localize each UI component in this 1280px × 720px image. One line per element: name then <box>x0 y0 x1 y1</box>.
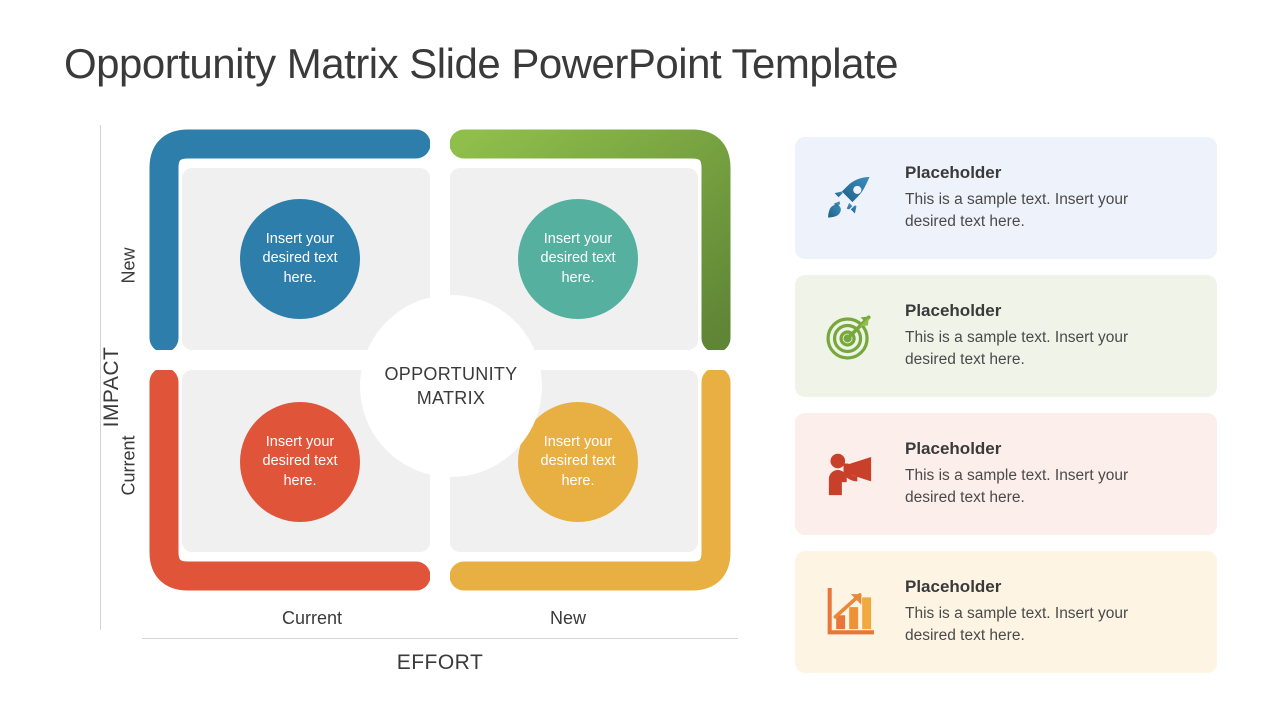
x-axis-title: EFFORT <box>240 651 640 675</box>
card-body: Placeholder This is a sample text. Inser… <box>905 577 1201 648</box>
x-axis-tick-current: Current <box>192 608 432 629</box>
y-axis-tick-new: New <box>119 221 140 311</box>
x-axis-tick-new: New <box>448 608 688 629</box>
center-hub-line-1: OPPORTUNITY <box>385 364 518 384</box>
rocket-icon <box>817 167 883 229</box>
card-title: Placeholder <box>905 163 1201 183</box>
target-icon <box>817 305 883 367</box>
placeholder-card-list: Placeholder This is a sample text. Inser… <box>795 137 1217 682</box>
x-axis-line <box>142 638 738 639</box>
center-hub-line-2: MATRIX <box>417 388 485 408</box>
card-body: Placeholder This is a sample text. Inser… <box>905 439 1201 510</box>
quadrant-grid: Insert your desired text here. Insert yo… <box>140 120 740 600</box>
card-title: Placeholder <box>905 301 1201 321</box>
list-item[interactable]: Placeholder This is a sample text. Inser… <box>795 413 1217 535</box>
megaphone-person-icon <box>817 443 883 505</box>
quadrant-bubble-text: Insert your desired text here. <box>522 433 634 492</box>
card-body: Placeholder This is a sample text. Inser… <box>905 163 1201 234</box>
card-body: Placeholder This is a sample text. Inser… <box>905 301 1201 372</box>
card-title: Placeholder <box>905 577 1201 597</box>
opportunity-matrix-diagram: IMPACT New Current <box>60 120 760 685</box>
card-description: This is a sample text. Insert your desir… <box>905 327 1145 372</box>
matrix-center-hub: OPPORTUNITY MATRIX <box>360 295 542 477</box>
list-item[interactable]: Placeholder This is a sample text. Inser… <box>795 551 1217 673</box>
quadrant-bubble-text: Insert your desired text here. <box>522 230 634 289</box>
list-item[interactable]: Placeholder This is a sample text. Inser… <box>795 275 1217 397</box>
card-description: This is a sample text. Insert your desir… <box>905 465 1145 510</box>
page-title: Opportunity Matrix Slide PowerPoint Temp… <box>64 40 898 88</box>
card-description: This is a sample text. Insert your desir… <box>905 603 1145 648</box>
quadrant-bubble-top-right[interactable]: Insert your desired text here. <box>518 199 638 319</box>
quadrant-bubble-text: Insert your desired text here. <box>244 433 356 492</box>
quadrant-bubble-text: Insert your desired text here. <box>244 230 356 289</box>
quadrant-bubble-top-left[interactable]: Insert your desired text here. <box>240 199 360 319</box>
quadrant-bubble-bottom-left[interactable]: Insert your desired text here. <box>240 402 360 522</box>
card-description: This is a sample text. Insert your desir… <box>905 189 1145 234</box>
y-axis-tick-current: Current <box>119 421 140 511</box>
bar-chart-growth-icon <box>817 581 883 643</box>
card-title: Placeholder <box>905 439 1201 459</box>
list-item[interactable]: Placeholder This is a sample text. Inser… <box>795 137 1217 259</box>
quadrant-bubble-bottom-right[interactable]: Insert your desired text here. <box>518 402 638 522</box>
